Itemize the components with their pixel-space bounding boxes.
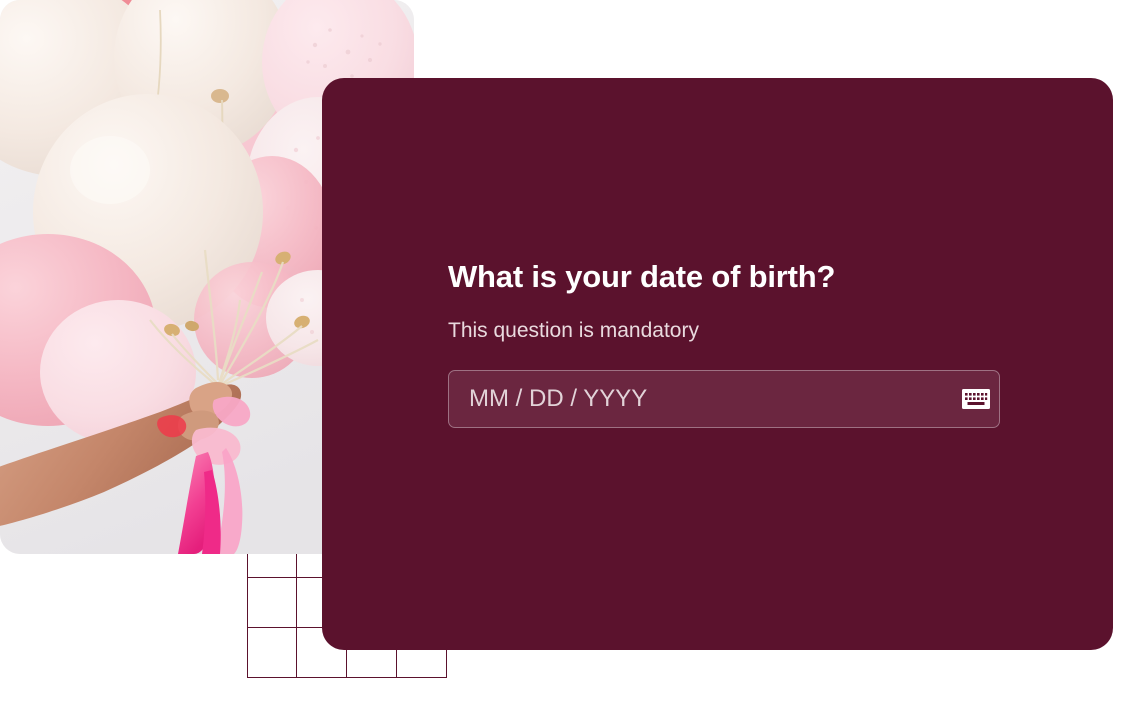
question-subtitle: This question is mandatory xyxy=(448,317,1002,344)
date-of-birth-input[interactable] xyxy=(449,371,953,427)
keyboard-icon xyxy=(962,389,990,409)
grid-cell xyxy=(247,578,297,628)
keyboard-toggle-button[interactable] xyxy=(953,371,999,427)
question-card: What is your date of birth? This questio… xyxy=(322,78,1113,650)
date-of-birth-field[interactable] xyxy=(448,370,1000,428)
question-body: What is your date of birth? This questio… xyxy=(448,258,1002,428)
grid-cell xyxy=(247,628,297,678)
screen-root: What is your date of birth? This questio… xyxy=(0,0,1130,705)
question-title: What is your date of birth? xyxy=(448,258,1002,297)
